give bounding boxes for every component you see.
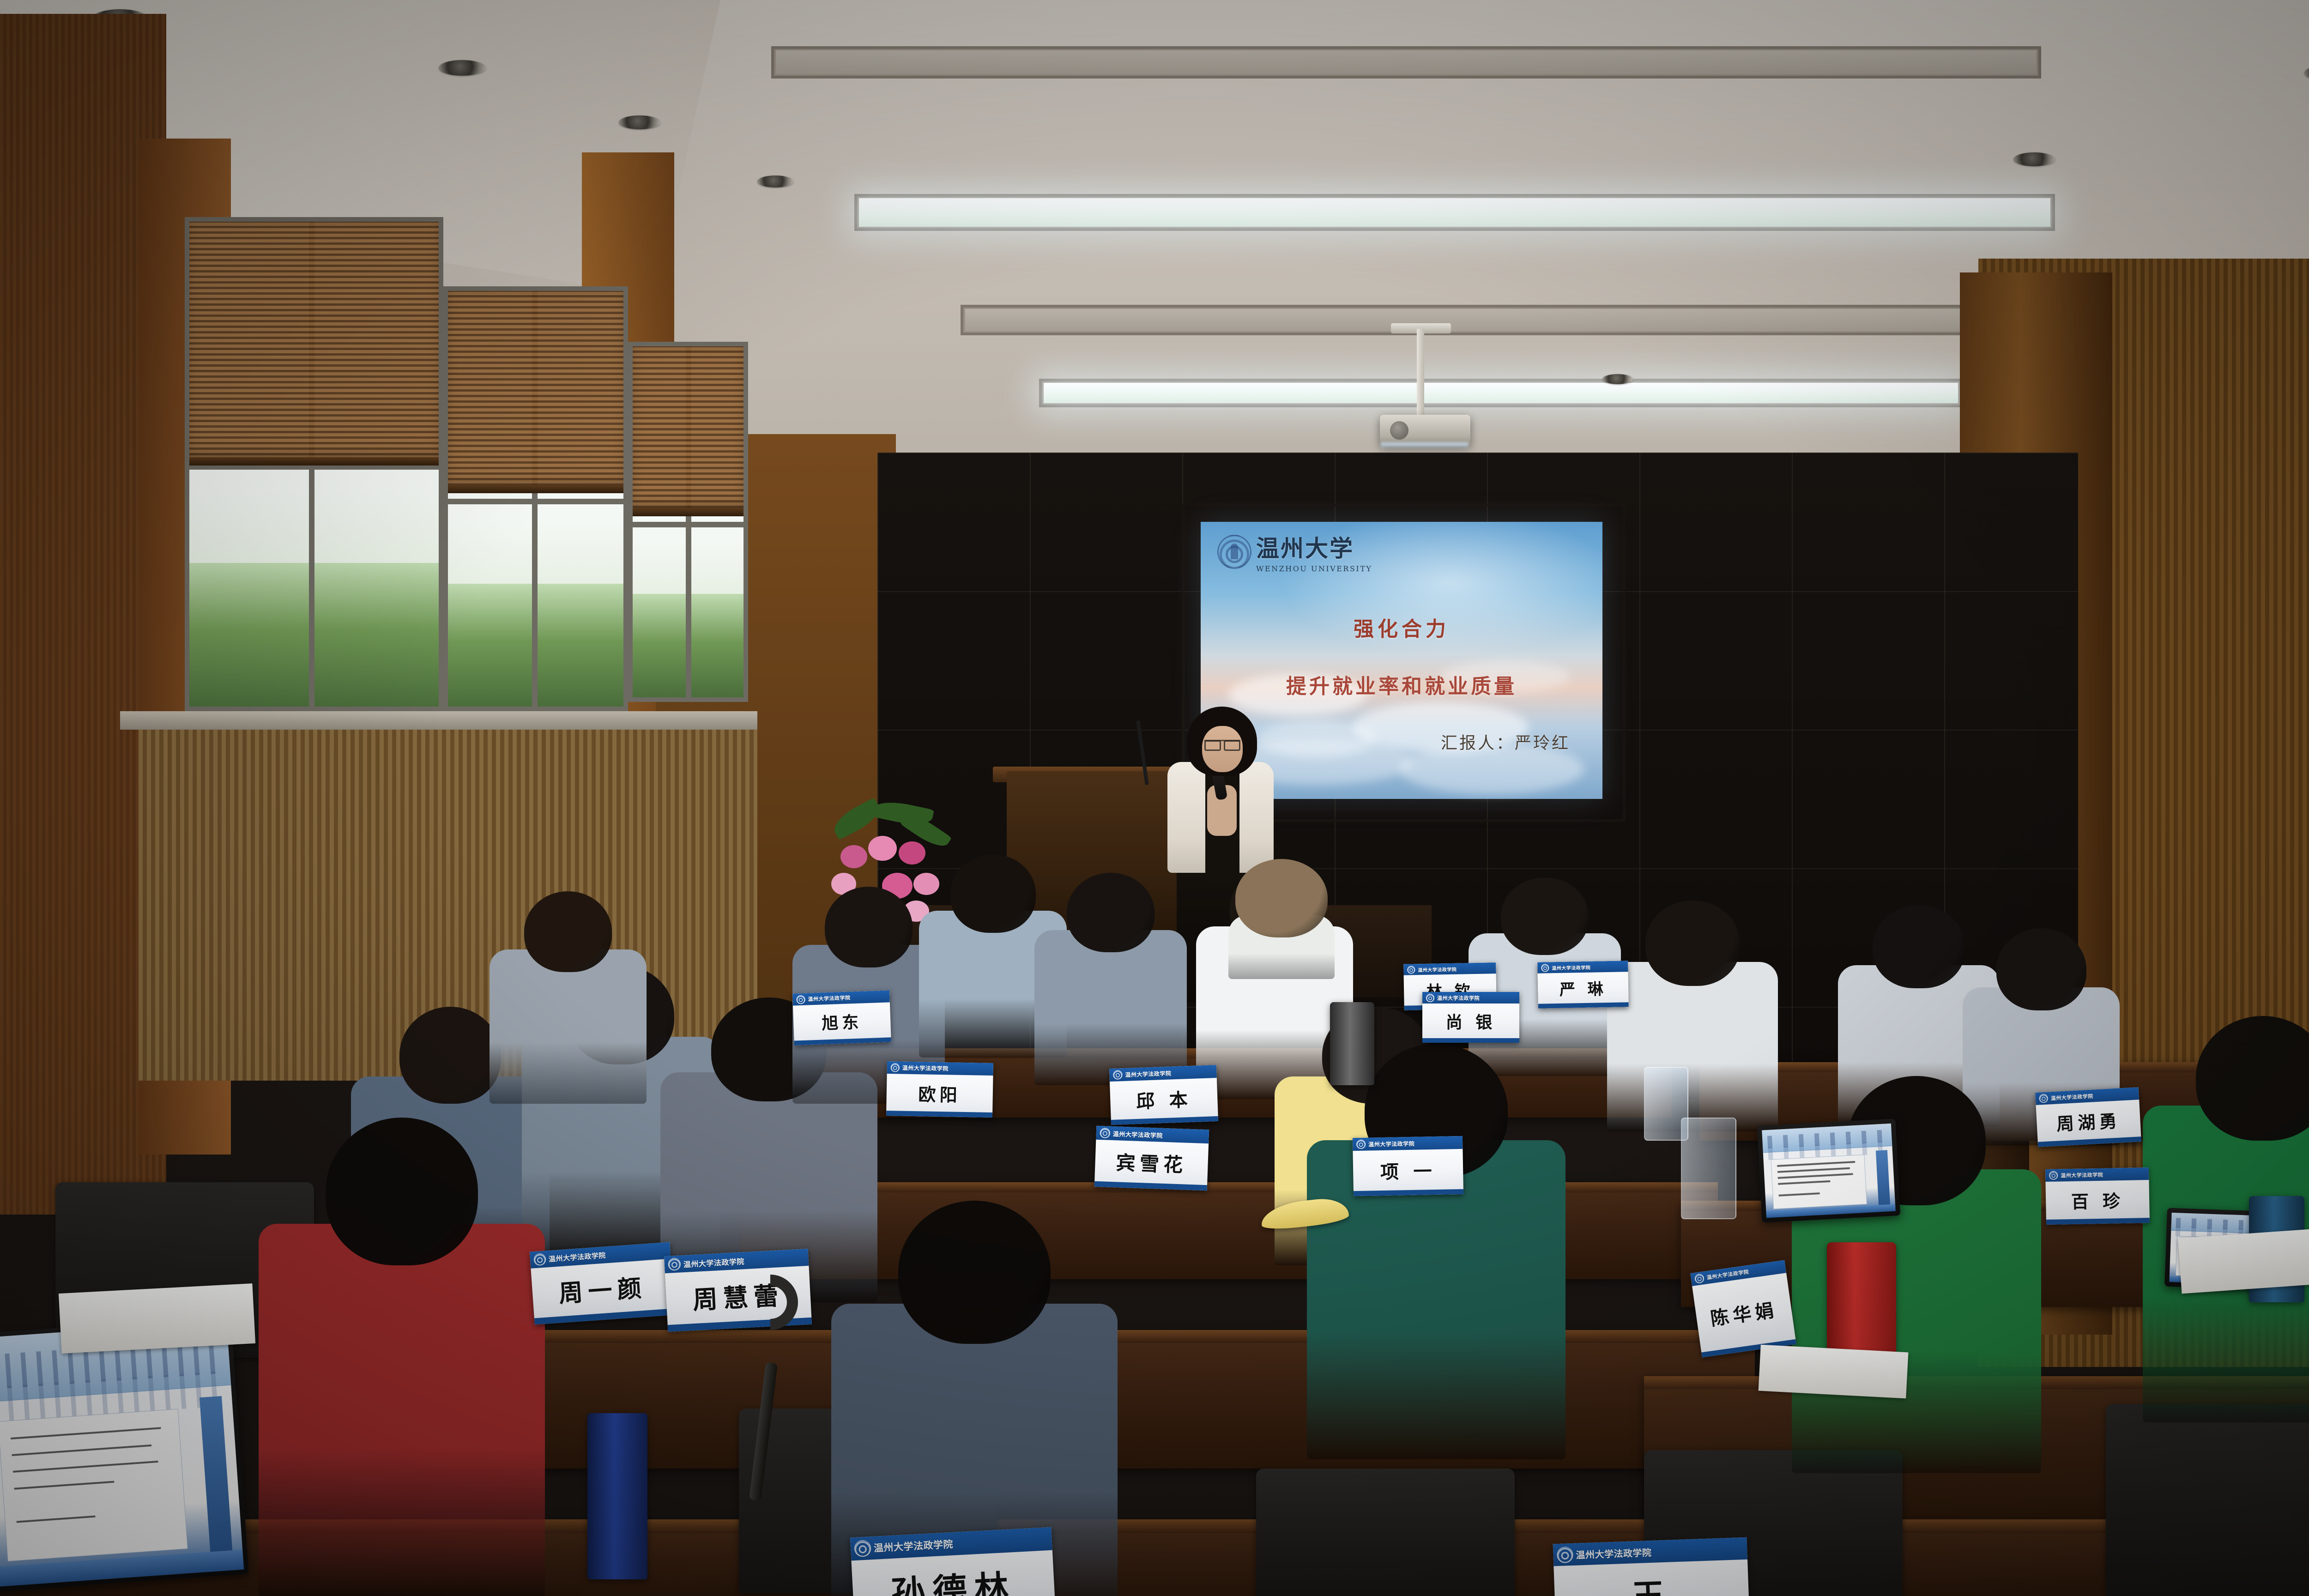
nameplate[interactable]: 温州大学法政学院 旭东 xyxy=(792,990,891,1045)
nameplate[interactable]: 温州大学法政学院 陈华娟 xyxy=(1690,1260,1796,1358)
attendee-head xyxy=(399,1007,501,1104)
attendee-head xyxy=(1996,928,2086,1010)
projector-pole xyxy=(1417,329,1424,421)
attendee-head xyxy=(950,854,1036,933)
wzu-seal-icon xyxy=(1356,1140,1366,1149)
window xyxy=(185,217,443,711)
attendee-torso xyxy=(259,1224,545,1596)
attendee xyxy=(1228,859,1335,979)
nameplate-name: 欧阳 xyxy=(886,1074,993,1112)
nameplate[interactable]: 温州大学法政学院 宾雪花 xyxy=(1094,1126,1209,1191)
wzu-seal-icon xyxy=(668,1257,681,1270)
projection-screen: 温州大学 WENZHOU UNIVERSITY 强化合力 提升就业率和就业质量 … xyxy=(1201,522,1602,799)
ceiling-light-off xyxy=(965,309,1995,331)
attendee-head xyxy=(1235,859,1328,937)
ceiling-light-on xyxy=(859,198,2050,227)
attendee-head xyxy=(1645,901,1740,986)
wzu-logo: 温州大学 WENZHOU UNIVERSITY xyxy=(1217,530,1372,573)
blue-water-bottle[interactable] xyxy=(587,1413,647,1579)
wzu-seal-icon xyxy=(2039,1094,2048,1103)
attendee-head xyxy=(1067,873,1154,952)
paper-document[interactable] xyxy=(1759,1345,1909,1399)
nameplate-name: 周一颜 xyxy=(531,1259,674,1318)
nameplate-org: 温州大学法政学院 xyxy=(1125,1069,1172,1078)
word-document-page[interactable] xyxy=(1771,1155,1867,1209)
nameplate[interactable]: 温州大学法政学院 百 珍 xyxy=(2045,1167,2150,1225)
attendee-head xyxy=(1873,905,1965,988)
paper-document[interactable] xyxy=(2178,1228,2309,1294)
nameplate-org: 温州大学法政学院 xyxy=(2050,1092,2093,1102)
attendee xyxy=(259,1118,545,1596)
wzu-seal-icon xyxy=(533,1253,546,1266)
nameplate-name: 周湖勇 xyxy=(2036,1100,2141,1142)
nameplate[interactable]: 温州大学法政学院 王 xyxy=(1553,1537,1750,1596)
attendee-head xyxy=(825,887,913,967)
nameplate[interactable]: 温州大学法政学院 邱 本 xyxy=(1109,1065,1218,1125)
wzu-seal-icon xyxy=(796,995,805,1004)
wzu-seal-icon xyxy=(1694,1273,1705,1284)
attendee-head xyxy=(326,1118,478,1265)
laptop[interactable] xyxy=(0,1316,249,1592)
window xyxy=(443,286,628,711)
attendee xyxy=(1034,873,1187,1085)
attendee-head xyxy=(898,1201,1051,1344)
ceiling-light-on xyxy=(1044,383,1958,403)
nameplate-name: 陈华娟 xyxy=(1692,1273,1795,1352)
nameplate-band: 温州大学法政学院 xyxy=(1403,962,1496,975)
chair[interactable] xyxy=(2106,1404,2309,1596)
nameplate-name: 项 一 xyxy=(1353,1149,1463,1191)
window-sill xyxy=(120,711,757,730)
nameplate[interactable]: 温州大学法政学院 尚 银 xyxy=(1422,992,1519,1043)
nameplate-name: 旭东 xyxy=(793,1002,891,1040)
slide-presenter: 汇报人：严玲红 xyxy=(1441,730,1570,754)
laptop-screen[interactable] xyxy=(1762,1124,1896,1218)
nameplate-name: 邱 本 xyxy=(1110,1078,1218,1120)
attendee-torso xyxy=(490,949,647,1104)
nameplate-org: 温州大学法政学院 xyxy=(683,1255,744,1270)
nameplate-band: 温州大学法政学院 xyxy=(1422,992,1519,1004)
nameplate-name: 宾雪花 xyxy=(1094,1140,1209,1185)
nameplate-org: 温州大学法政学院 xyxy=(1368,1139,1414,1148)
attendee-torso xyxy=(1034,930,1187,1085)
red-thermos[interactable] xyxy=(1827,1242,1896,1353)
laptop-screen[interactable] xyxy=(0,1321,244,1587)
chair[interactable] xyxy=(1256,1469,1515,1596)
nameplate-org: 温州大学法政学院 xyxy=(1437,994,1480,1002)
nameplate[interactable]: 温州大学法政学院 严 琳 xyxy=(1537,961,1629,1008)
paper-document[interactable] xyxy=(59,1283,255,1354)
recessed-downlight-icon xyxy=(2013,152,2055,166)
nameplate-band: 温州大学法政学院 xyxy=(1537,961,1628,973)
nameplate-org: 温州大学法政学院 xyxy=(1113,1129,1163,1140)
nameplate-org: 温州大学法政学院 xyxy=(1552,963,1590,971)
nameplate[interactable]: 温州大学法政学院 项 一 xyxy=(1353,1136,1463,1196)
recessed-downlight-icon xyxy=(757,175,793,187)
nameplate-foot xyxy=(1422,1038,1519,1043)
window xyxy=(628,342,748,702)
projector-lens-icon xyxy=(1390,421,1408,440)
recessed-downlight-icon xyxy=(619,115,660,129)
nameplate-name: 百 珍 xyxy=(2045,1180,2149,1220)
slide-subtitle: 提升就业率和就业质量 xyxy=(1201,670,1602,699)
nameplate[interactable]: 温州大学法政学院 周湖勇 xyxy=(2035,1087,2141,1147)
wzu-seal-icon xyxy=(854,1540,871,1557)
ceiling-light-off xyxy=(776,50,2037,74)
attendee-head xyxy=(524,891,612,972)
laptop[interactable] xyxy=(1757,1118,1901,1222)
wzu-seal-icon xyxy=(1426,994,1434,1002)
nameplate-org: 温州大学法政学院 xyxy=(873,1537,953,1555)
nameplate-band: 温州大学法政学院 xyxy=(2045,1167,2149,1182)
nameplate-name: 王 xyxy=(1553,1560,1749,1596)
wzu-logo-cn: 温州大学 xyxy=(1256,530,1372,563)
eyeglasses-icon xyxy=(1204,740,1240,747)
attendee xyxy=(1307,1044,1566,1459)
window-outer-frame xyxy=(443,286,628,711)
wzu-seal-icon xyxy=(1541,964,1549,972)
attendee-torso xyxy=(1607,962,1778,1131)
nameplate-org: 温州大学法政学院 xyxy=(1576,1545,1652,1561)
wzu-seal-icon xyxy=(1557,1546,1573,1563)
window-outer-frame xyxy=(628,342,748,702)
attendee xyxy=(1607,901,1778,1131)
nameplate-org: 温州大学法政学院 xyxy=(808,994,851,1003)
wzu-seal-icon xyxy=(1217,535,1251,569)
document-scrollbar[interactable] xyxy=(1875,1150,1890,1205)
nameplate-name: 严 琳 xyxy=(1538,972,1629,1004)
attendee xyxy=(490,891,647,1104)
recessed-downlight-icon xyxy=(439,60,486,76)
recessed-downlight-icon xyxy=(1602,374,1633,384)
nameplate-org: 温州大学法政学院 xyxy=(1418,965,1457,973)
metal-thermos[interactable] xyxy=(1330,1002,1374,1085)
nameplate-org: 温州大学法政学院 xyxy=(2061,1171,2103,1179)
nameplate-org: 温州大学法政学院 xyxy=(548,1250,606,1264)
nameplate-band: 温州大学法政学院 xyxy=(1353,1136,1463,1151)
nameplate-org: 温州大学法政学院 xyxy=(902,1064,949,1073)
nameplate[interactable]: 温州大学法政学院 孙德林 xyxy=(850,1527,1056,1596)
document-scrollbar[interactable] xyxy=(199,1396,233,1552)
nameplate-name: 尚 银 xyxy=(1422,1004,1519,1038)
nameplate[interactable]: 温州大学法政学院 周一颜 xyxy=(530,1242,675,1325)
wzu-seal-icon xyxy=(1100,1128,1110,1138)
attendee-head xyxy=(1501,877,1589,955)
nameplate-band: 温州大学法政学院 xyxy=(887,1061,993,1076)
glass-water-cup[interactable] xyxy=(1644,1067,1688,1141)
wzu-seal-icon xyxy=(2049,1171,2058,1179)
attendee-head xyxy=(2196,1016,2309,1141)
glass-water-cup[interactable] xyxy=(1681,1118,1736,1219)
slide-title: 强化合力 xyxy=(1201,612,1602,642)
nameplate[interactable]: 温州大学法政学院 欧阳 xyxy=(886,1061,993,1118)
wzu-seal-icon xyxy=(1113,1070,1123,1080)
wzu-logo-en: WENZHOU UNIVERSITY xyxy=(1256,564,1372,573)
projector-glow xyxy=(1381,442,1469,450)
wzu-seal-icon xyxy=(891,1063,900,1072)
wzu-seal-icon xyxy=(1407,966,1415,973)
word-document-page[interactable] xyxy=(0,1409,187,1561)
conference-room-photo: 温州大学 WENZHOU UNIVERSITY 强化合力 提升就业率和就业质量 … xyxy=(0,0,2309,1596)
window-outer-frame xyxy=(185,217,443,711)
